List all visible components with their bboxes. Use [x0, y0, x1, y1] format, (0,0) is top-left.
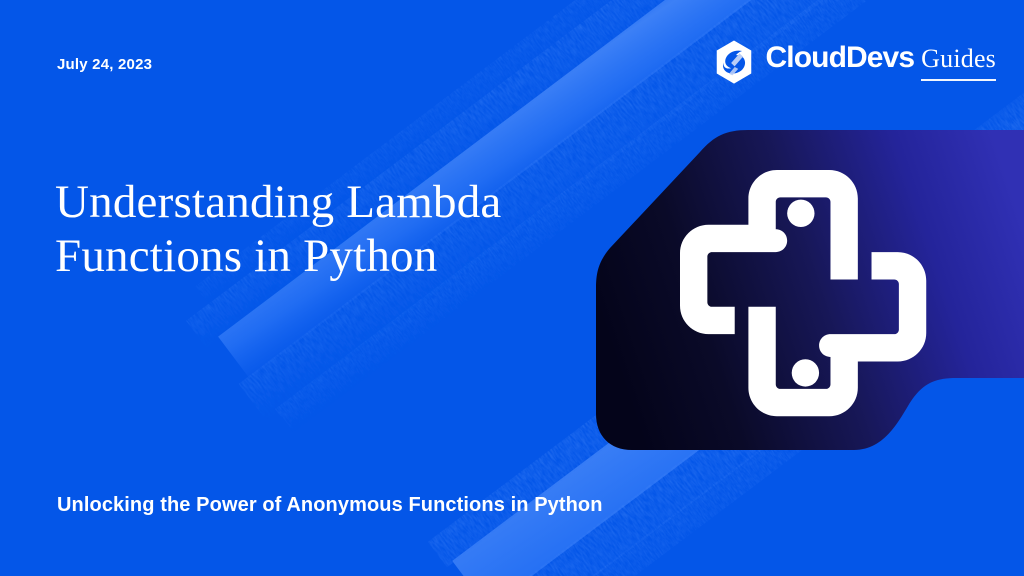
- brand-sub-label: Guides: [921, 46, 996, 72]
- clouddevs-logo-icon: [711, 39, 757, 85]
- page-subtitle: Unlocking the Power of Anonymous Functio…: [57, 494, 603, 517]
- brand-name: CloudDevs: [766, 43, 915, 73]
- brand-sub-wrap: Guides: [921, 46, 996, 81]
- python-artwork-card: [596, 130, 1024, 450]
- blog-cover-slide: July 24, 2023 CloudDevs Guides Understan…: [0, 0, 1024, 576]
- publish-date: July 24, 2023: [57, 56, 152, 73]
- brand-lockup[interactable]: CloudDevs Guides: [711, 38, 996, 86]
- brand-wordmark: CloudDevs Guides: [766, 43, 996, 81]
- page-title: Understanding Lambda Functions in Python: [55, 175, 585, 283]
- brand-underline: [921, 79, 996, 81]
